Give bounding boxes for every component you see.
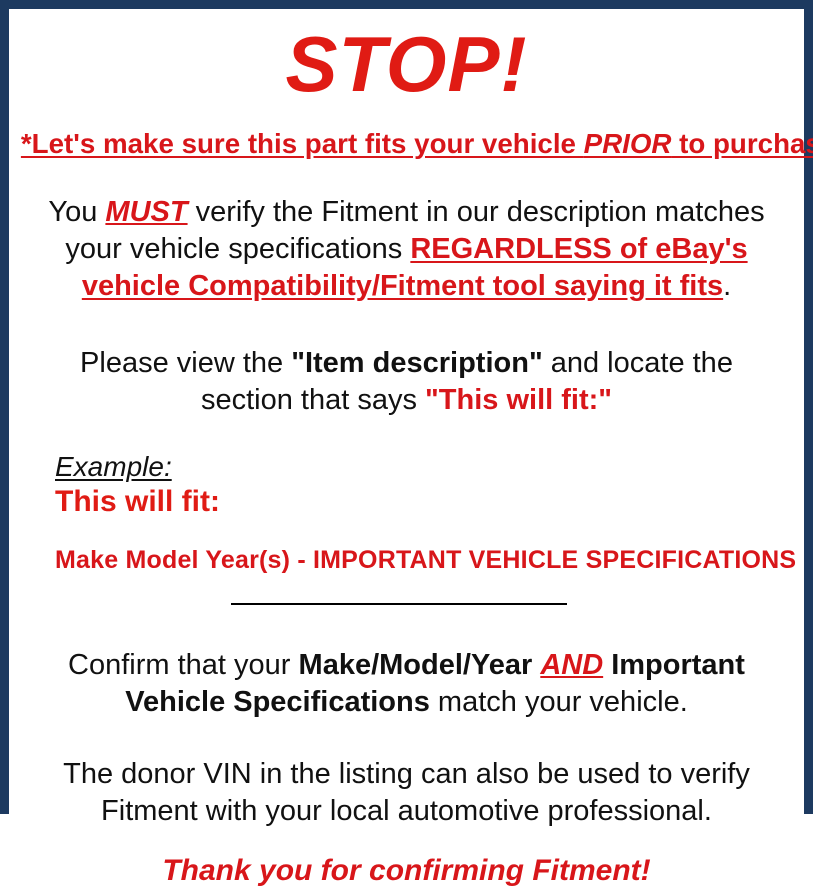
closing-thanks: Thank you for confirming Fitment!	[17, 854, 796, 888]
this-will-fit-emphasis: "This will fit:"	[425, 384, 612, 416]
item-description-emphasis: "Item description"	[291, 347, 542, 379]
notice-content: STOP! *Let's make sure this part fits yo…	[9, 25, 804, 821]
confirm-paragraph: Confirm that your Make/Model/Year AND Im…	[17, 647, 796, 721]
and-emphasis: AND	[540, 649, 603, 681]
example-spec-line: Make Model Year(s) - IMPORTANT VEHICLE S…	[55, 546, 796, 575]
subtitle-prefix: *Let's make sure this part fits your veh…	[21, 128, 584, 159]
example-label: Example:	[55, 451, 172, 483]
must-part1: You	[48, 196, 105, 228]
vin-paragraph: The donor VIN in the listing can also be…	[17, 756, 796, 830]
subtitle-line: *Let's make sure this part fits your veh…	[21, 129, 792, 160]
divider	[17, 597, 796, 611]
fitment-notice-card: STOP! *Let's make sure this part fits yo…	[0, 0, 813, 814]
make-model-year-emphasis: Make/Model/Year	[299, 649, 533, 681]
must-emphasis: MUST	[105, 196, 187, 228]
item-description-paragraph: Please view the "Item description" and l…	[17, 345, 796, 419]
must-verify-paragraph: You MUST verify the Fitment in our descr…	[17, 194, 796, 305]
view-part1: Please view the	[80, 347, 291, 379]
confirm-part1: Confirm that your	[68, 649, 298, 681]
subtitle-emphasis-prior: PRIOR	[584, 128, 672, 159]
must-part3: .	[723, 270, 731, 302]
divider-line	[231, 603, 567, 605]
example-fit-header: This will fit:	[55, 485, 796, 519]
example-label-row: Example:	[55, 451, 796, 483]
example-block: Example: This will fit: Make Model Year(…	[17, 451, 796, 575]
confirm-space-b	[603, 649, 611, 681]
confirm-part2: match your vehicle.	[430, 686, 688, 718]
subtitle-suffix: to purchasing*	[671, 128, 813, 159]
stop-heading: STOP!	[17, 25, 796, 103]
